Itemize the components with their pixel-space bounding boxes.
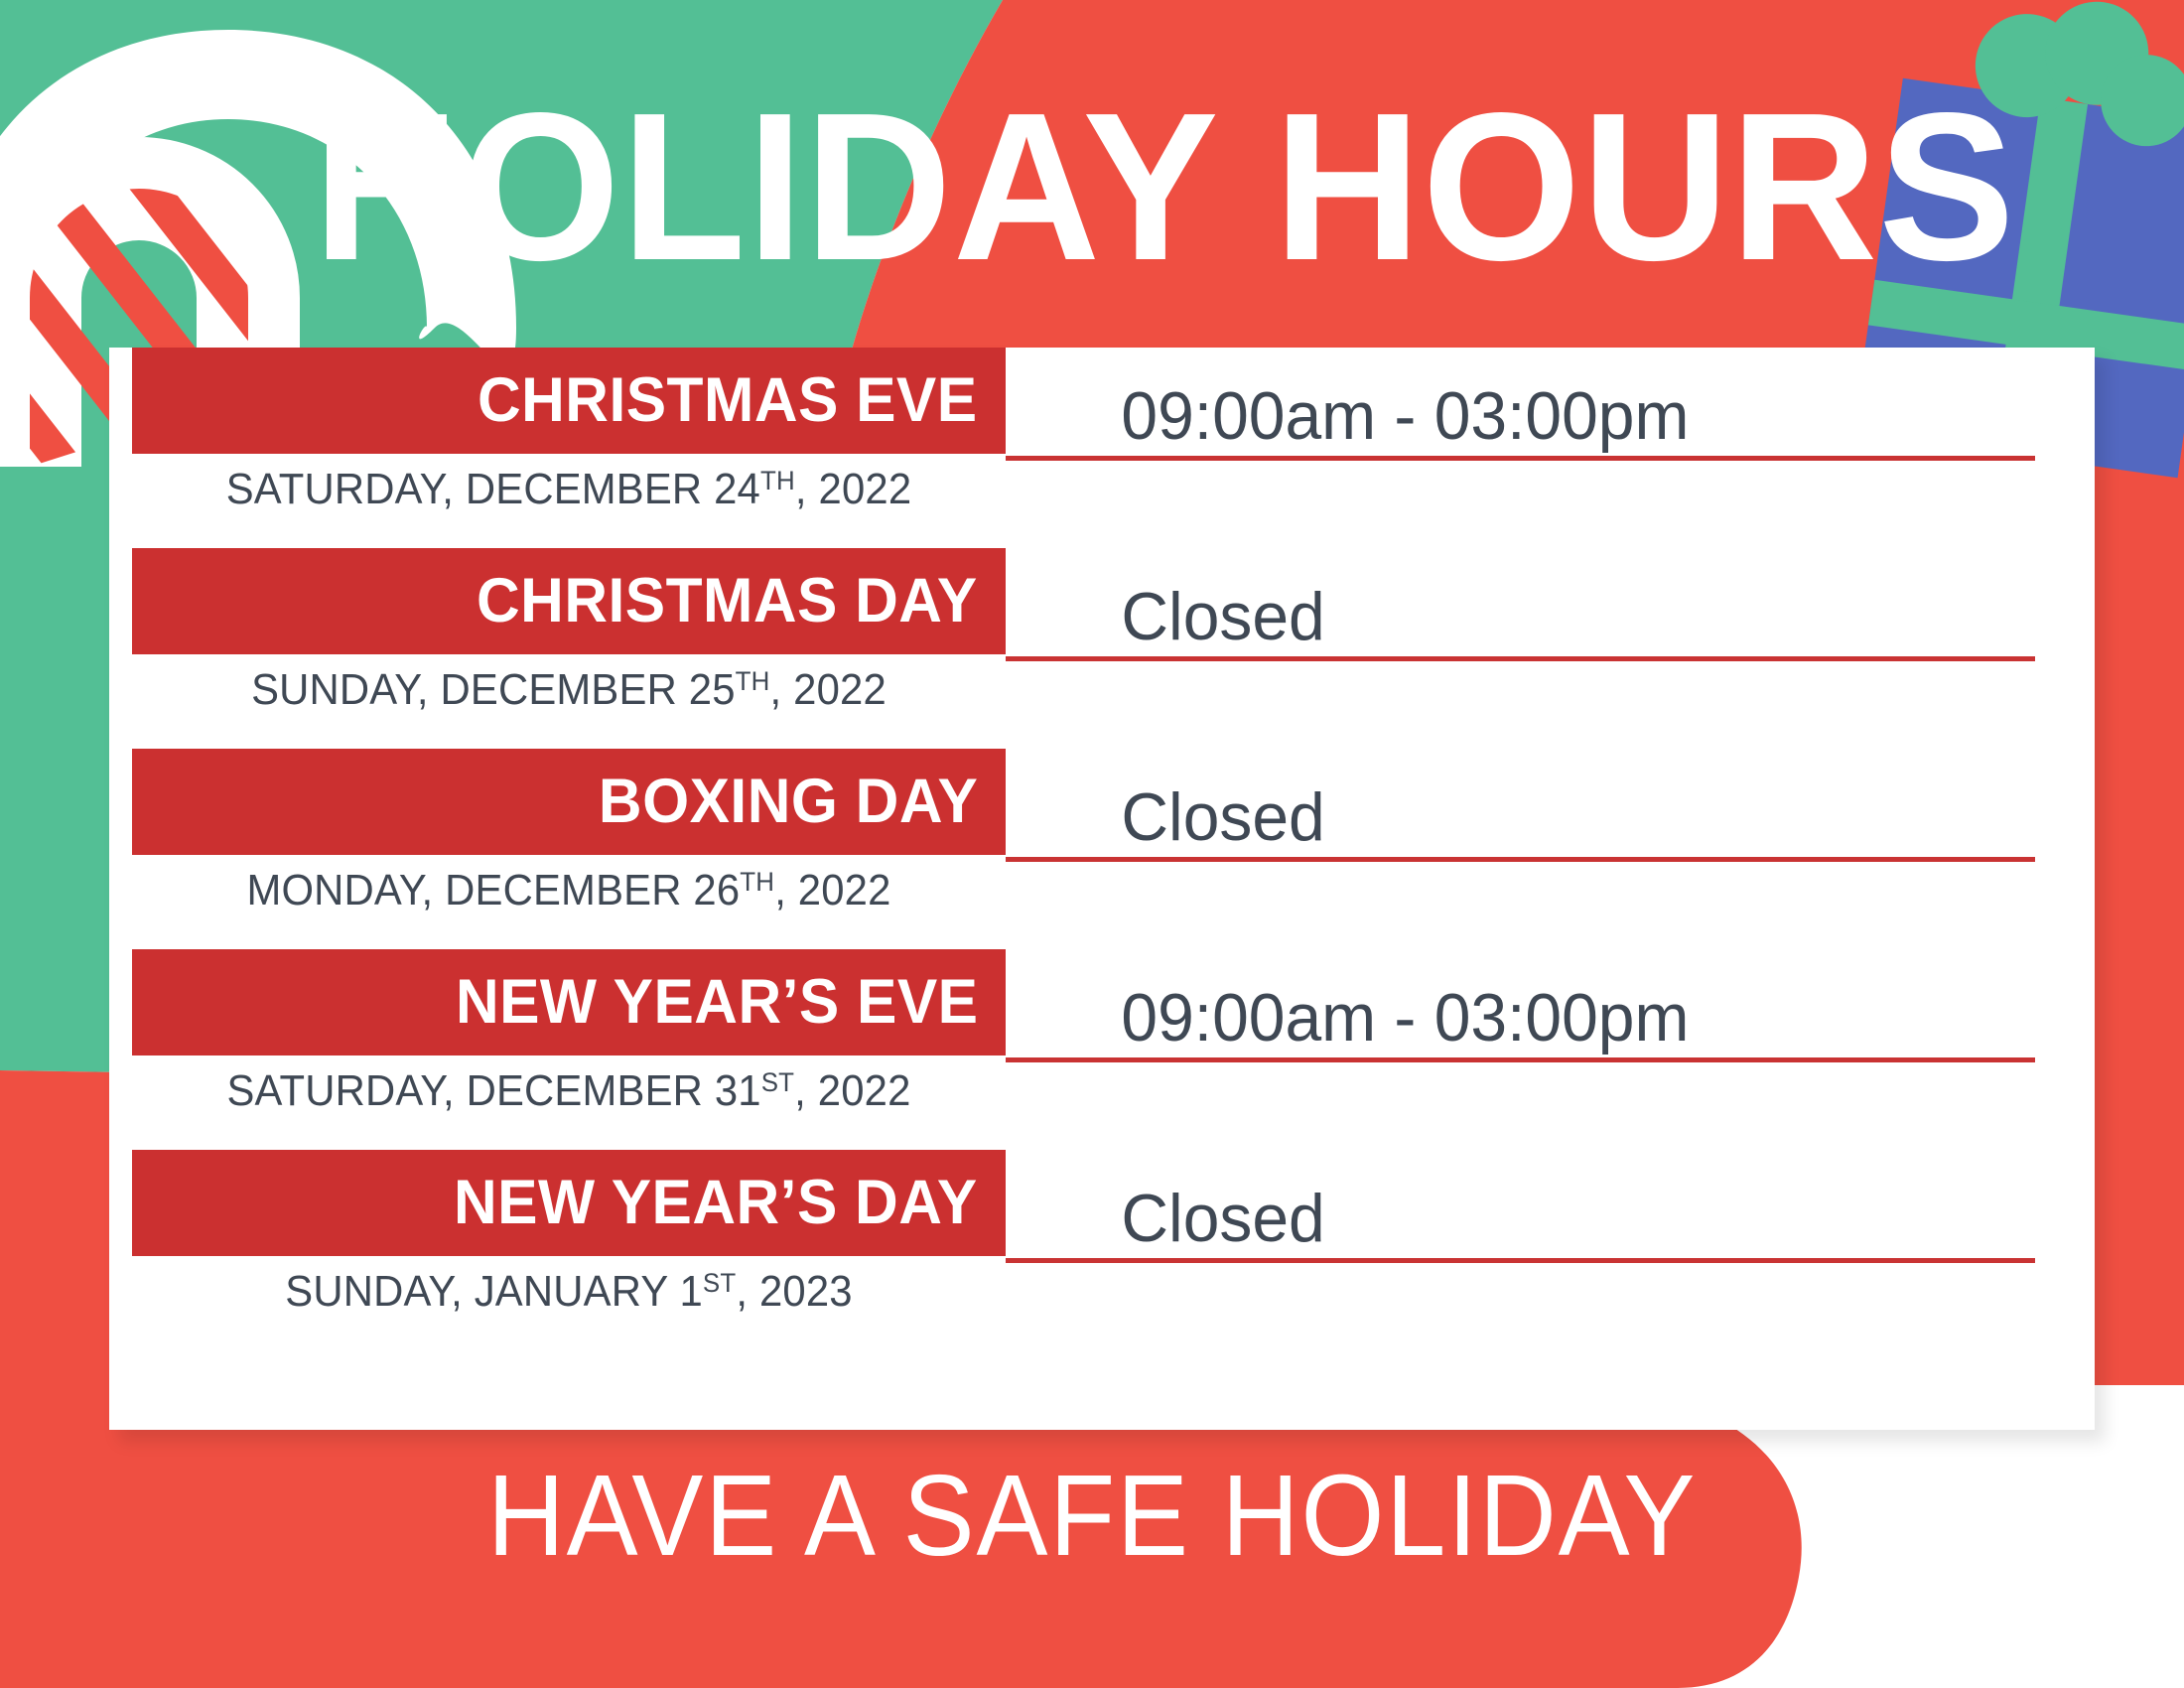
holiday-date-ordinal: ST — [761, 1066, 794, 1097]
holiday-label-bar: NEW YEAR’S DAY — [132, 1150, 1006, 1256]
row-divider-rule — [1006, 456, 2035, 461]
row-left-column: CHRISTMAS DAY SUNDAY, DECEMBER 25TH, 202… — [132, 548, 1006, 712]
holiday-date-prefix: SUNDAY, DECEMBER 25 — [251, 665, 736, 714]
holiday-hours: Closed — [1006, 548, 2004, 650]
row-divider-rule — [1006, 857, 2035, 862]
holiday-date: SUNDAY, JANUARY 1ST, 2023 — [154, 1270, 984, 1314]
table-row: NEW YEAR’S DAY SUNDAY, JANUARY 1ST, 2023… — [109, 1150, 2095, 1350]
row-right-column: Closed — [1006, 548, 2035, 661]
row-left-column: NEW YEAR’S DAY SUNDAY, JANUARY 1ST, 2023 — [132, 1150, 1006, 1314]
holiday-date-ordinal: ST — [703, 1267, 736, 1298]
table-row: BOXING DAY MONDAY, DECEMBER 26TH, 2022 C… — [109, 749, 2095, 949]
holiday-date: SATURDAY, DECEMBER 31ST, 2022 — [154, 1069, 984, 1113]
table-row: NEW YEAR’S EVE SATURDAY, DECEMBER 31ST, … — [109, 949, 2095, 1150]
row-left-column: BOXING DAY MONDAY, DECEMBER 26TH, 2022 — [132, 749, 1006, 913]
holiday-date-prefix: SUNDAY, JANUARY 1 — [285, 1267, 703, 1316]
row-divider-rule — [1006, 1258, 2035, 1263]
holiday-hours: 09:00am - 03:00pm — [1006, 949, 2004, 1052]
table-row: CHRISTMAS DAY SUNDAY, DECEMBER 25TH, 202… — [109, 548, 2095, 749]
holiday-hours: Closed — [1006, 749, 2004, 851]
row-divider-rule — [1006, 656, 2035, 661]
holiday-label-bar: NEW YEAR’S EVE — [132, 949, 1006, 1055]
row-left-column: NEW YEAR’S EVE SATURDAY, DECEMBER 31ST, … — [132, 949, 1006, 1113]
holiday-date-suffix: , 2022 — [770, 665, 887, 714]
row-right-column: 09:00am - 03:00pm — [1006, 348, 2035, 461]
holiday-date-suffix: , 2022 — [794, 1066, 910, 1115]
table-row: CHRISTMAS EVE SATURDAY, DECEMBER 24TH, 2… — [109, 348, 2095, 548]
holiday-hours: Closed — [1006, 1150, 2004, 1252]
holiday-date-suffix: , 2022 — [774, 866, 890, 914]
row-divider-rule — [1006, 1057, 2035, 1062]
holiday-date: MONDAY, DECEMBER 26TH, 2022 — [154, 869, 984, 913]
row-left-column: CHRISTMAS EVE SATURDAY, DECEMBER 24TH, 2… — [132, 348, 1006, 511]
holiday-date-suffix: , 2022 — [795, 465, 911, 513]
holiday-label-bar: CHRISTMAS EVE — [132, 348, 1006, 454]
holiday-date-ordinal: TH — [736, 665, 770, 696]
row-right-column: Closed — [1006, 749, 2035, 862]
holiday-date: SATURDAY, DECEMBER 24TH, 2022 — [154, 468, 984, 511]
row-right-column: 09:00am - 03:00pm — [1006, 949, 2035, 1062]
holiday-date-prefix: SATURDAY, DECEMBER 31 — [226, 1066, 760, 1115]
holiday-date-prefix: MONDAY, DECEMBER 26 — [246, 866, 740, 914]
holiday-name: NEW YEAR’S EVE — [455, 971, 978, 1034]
holiday-hours-poster: HOLIDAY HOURS CHRISTMAS EVE SATURDAY, DE… — [0, 0, 2184, 1688]
holiday-date-ordinal: TH — [740, 866, 774, 897]
holiday-date-prefix: SATURDAY, DECEMBER 24 — [226, 465, 760, 513]
holiday-name: CHRISTMAS EVE — [478, 369, 978, 432]
holiday-label-bar: BOXING DAY — [132, 749, 1006, 855]
holiday-date-suffix: , 2023 — [736, 1267, 852, 1316]
holiday-name: NEW YEAR’S DAY — [454, 1172, 978, 1234]
coral-footer-banner — [0, 1388, 1802, 1688]
holiday-date: SUNDAY, DECEMBER 25TH, 2022 — [154, 668, 984, 712]
holiday-label-bar: CHRISTMAS DAY — [132, 548, 1006, 654]
holiday-hours: 09:00am - 03:00pm — [1006, 348, 2004, 450]
schedule-rows: CHRISTMAS EVE SATURDAY, DECEMBER 24TH, 2… — [109, 348, 2095, 1350]
schedule-card: CHRISTMAS EVE SATURDAY, DECEMBER 24TH, 2… — [109, 348, 2095, 1430]
holiday-name: BOXING DAY — [599, 771, 978, 833]
holiday-name: CHRISTMAS DAY — [477, 570, 978, 633]
row-right-column: Closed — [1006, 1150, 2035, 1263]
holiday-date-ordinal: TH — [760, 465, 795, 495]
